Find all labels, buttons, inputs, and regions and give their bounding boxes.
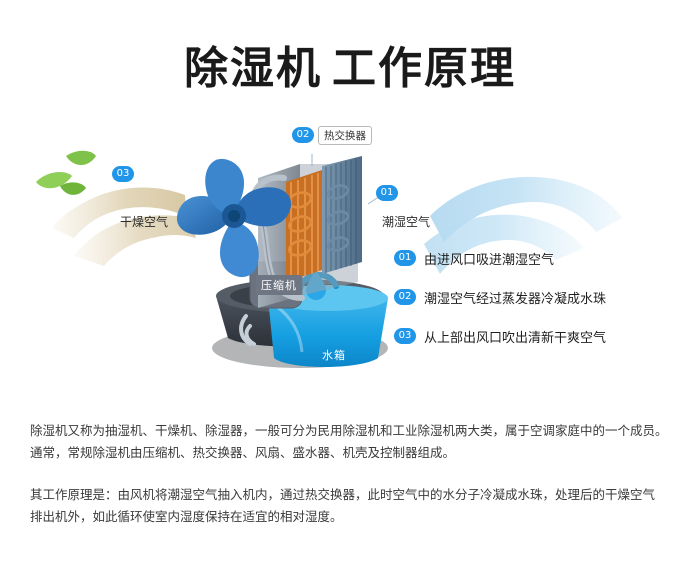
step-3-badge: 03 xyxy=(394,328,416,344)
humid-air-label: 潮湿空气 xyxy=(382,213,430,230)
leaf-icon-group xyxy=(36,151,96,195)
step-1-text: 由进风口吸进潮湿空气 xyxy=(424,249,554,268)
page-title-part1: 除湿机 xyxy=(184,43,322,94)
step-3-text: 从上部出风口吹出清新干爽空气 xyxy=(424,327,606,346)
heat-exchanger-chip: 热交换器 xyxy=(318,126,372,145)
infographic-page: 除湿机工作原理 xyxy=(0,0,700,566)
illustration-svg xyxy=(0,120,700,400)
badge-03-diagram: 03 xyxy=(112,166,134,182)
paragraph-2-line-1: 其工作原理是：由风机将潮湿空气抽入机内，通过热交换器，此时空气中的水分子冷凝成水… xyxy=(30,484,675,506)
paragraph-1-line-2: 通常，常规除湿机由压缩机、热交换器、风扇、盛水器、机壳及控制器组成。 xyxy=(30,442,675,464)
step-2-text: 潮湿空气经过蒸发器冷凝成水珠 xyxy=(424,288,606,307)
paragraph-1: 除湿机又称为抽湿机、干燥机、除湿器，一般可分为民用除湿机和工业除湿机两大类，属于… xyxy=(30,420,675,464)
paragraph-2-line-2: 排出机外，如此循环使室内湿度保持在适宜的相对湿度。 xyxy=(30,506,675,528)
paragraph-2: 其工作原理是：由风机将潮湿空气抽入机内，通过热交换器，此时空气中的水分子冷凝成水… xyxy=(30,484,675,528)
step-2-badge: 02 xyxy=(394,289,416,305)
compressor-label: 压缩机 xyxy=(256,275,302,295)
page-title-part2: 工作原理 xyxy=(332,43,516,94)
step-1-badge: 01 xyxy=(394,250,416,266)
page-title: 除湿机工作原理 xyxy=(0,32,700,96)
badge-01-diagram: 01 xyxy=(376,185,398,201)
dry-air-label: 干燥空气 xyxy=(120,213,168,230)
paragraph-1-line-1: 除湿机又称为抽湿机、干燥机、除湿器，一般可分为民用除湿机和工业除湿机两大类，属于… xyxy=(30,420,675,442)
water-tank-label: 水箱 xyxy=(322,347,346,363)
badge-02-diagram: 02 xyxy=(292,127,314,143)
dehumidifier-illustration: 热交换器 02 01 潮湿空气 03 干燥空气 压缩机 水箱 01 由进风口吸进… xyxy=(0,120,700,400)
